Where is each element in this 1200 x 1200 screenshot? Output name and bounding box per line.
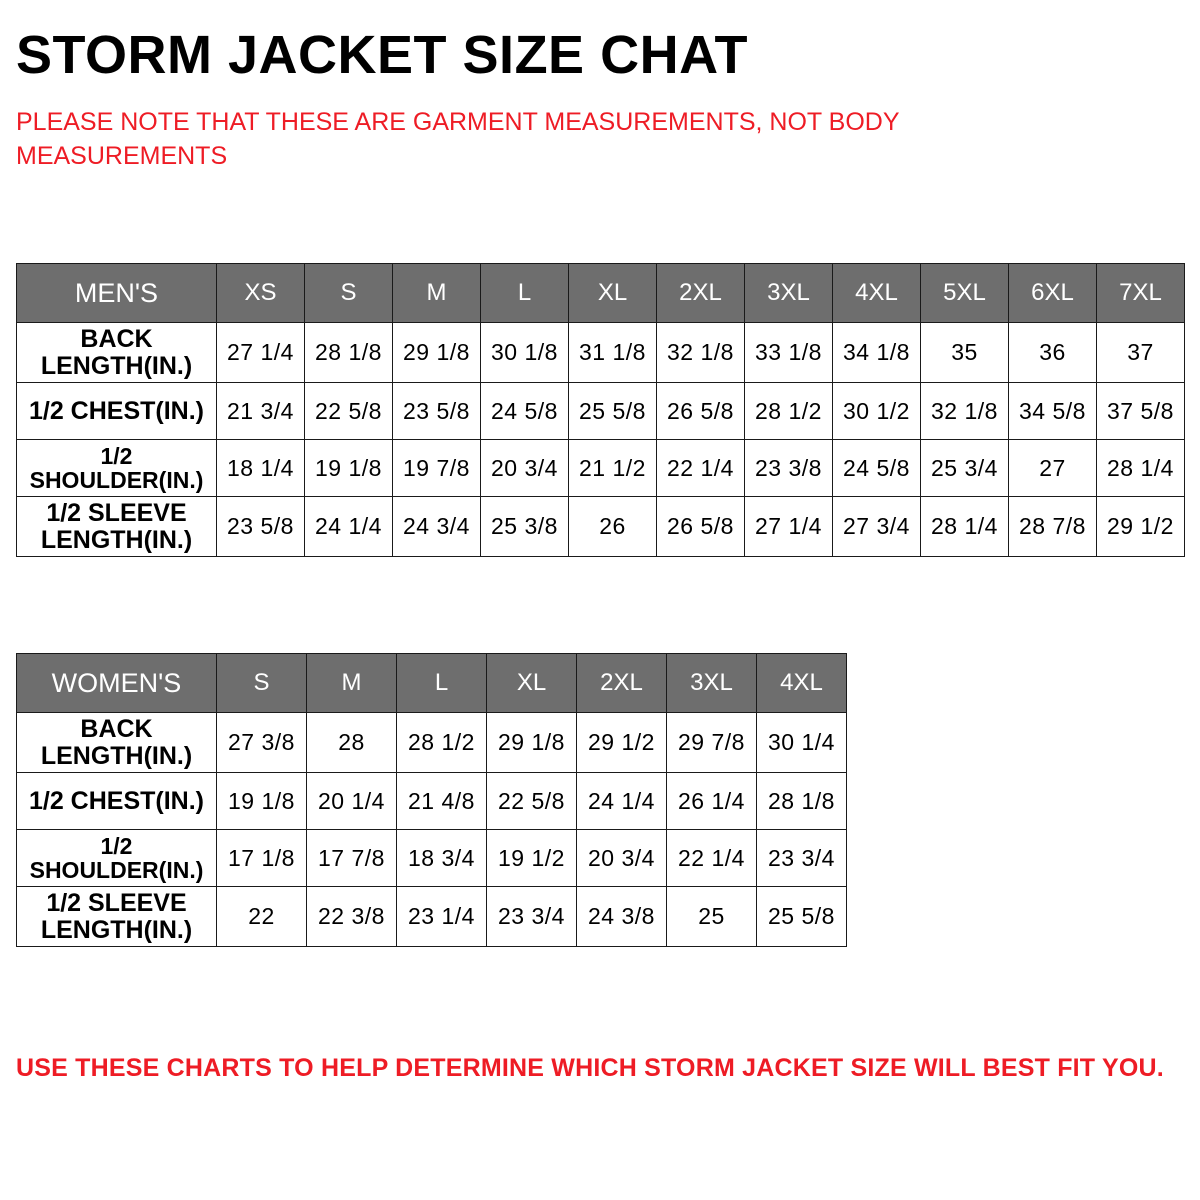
measurement-cell: 30 1/4 [757, 713, 847, 773]
womens-table-head: WOMEN'SSMLXL2XL3XL4XL [17, 654, 847, 713]
measurement-cell: 17 7/8 [307, 830, 397, 887]
measurement-cell: 27 1/4 [217, 323, 305, 383]
measurement-cell: 24 5/8 [481, 383, 569, 440]
mens-column-header-s: S [305, 264, 393, 323]
mens-corner-label: MEN'S [17, 264, 217, 323]
garment-measurement-note: PLEASE NOTE THAT THESE ARE GARMENT MEASU… [16, 82, 966, 174]
size-chart-page: STORM JACKET SIZE CHAT PLEASE NOTE THAT … [0, 0, 1200, 1200]
mens-size-table-container: MEN'SXSSMLXL2XL3XL4XL5XL6XL7XL BACK LENG… [16, 263, 1185, 557]
measurement-cell: 23 1/4 [397, 887, 487, 947]
measurement-cell: 25 5/8 [757, 887, 847, 947]
womens-column-header-2xl: 2XL [577, 654, 667, 713]
mens-column-header-3xl: 3XL [745, 264, 833, 323]
measurement-cell: 23 3/4 [757, 830, 847, 887]
measurement-cell: 28 1/2 [397, 713, 487, 773]
measurement-cell: 29 1/2 [1097, 497, 1185, 557]
mens-column-header-xs: XS [217, 264, 305, 323]
table-row: 1/2 CHEST(IN.)21 3/422 5/823 5/824 5/825… [17, 383, 1185, 440]
measurement-cell: 20 1/4 [307, 773, 397, 830]
measurement-cell: 29 1/8 [393, 323, 481, 383]
measurement-cell: 24 1/4 [577, 773, 667, 830]
measurement-cell: 20 3/4 [481, 440, 569, 497]
measurement-cell: 22 [217, 887, 307, 947]
measurement-cell: 32 1/8 [921, 383, 1009, 440]
mens-column-header-xl: XL [569, 264, 657, 323]
measurement-cell: 24 3/4 [393, 497, 481, 557]
measurement-cell: 26 [569, 497, 657, 557]
measurement-cell: 30 1/2 [833, 383, 921, 440]
measurement-cell: 24 5/8 [833, 440, 921, 497]
mens-header-row: MEN'SXSSMLXL2XL3XL4XL5XL6XL7XL [17, 264, 1185, 323]
measurement-cell: 25 3/4 [921, 440, 1009, 497]
measurement-cell: 19 1/8 [217, 773, 307, 830]
measurement-cell: 28 7/8 [1009, 497, 1097, 557]
mens-row-header-2: 1/2 SHOULDER(IN.) [17, 440, 217, 497]
measurement-cell: 35 [921, 323, 1009, 383]
measurement-cell: 34 1/8 [833, 323, 921, 383]
womens-size-table: WOMEN'SSMLXL2XL3XL4XL BACK LENGTH(IN.)27… [16, 653, 847, 947]
measurement-cell: 28 1/4 [1097, 440, 1185, 497]
measurement-cell: 23 5/8 [217, 497, 305, 557]
measurement-cell: 28 1/2 [745, 383, 833, 440]
measurement-cell: 29 1/2 [577, 713, 667, 773]
mens-column-header-5xl: 5XL [921, 264, 1009, 323]
table-row: 1/2 SLEEVE LENGTH(IN.)23 5/824 1/424 3/4… [17, 497, 1185, 557]
measurement-cell: 31 1/8 [569, 323, 657, 383]
measurement-cell: 23 5/8 [393, 383, 481, 440]
measurement-cell: 22 1/4 [667, 830, 757, 887]
measurement-cell: 27 1/4 [745, 497, 833, 557]
measurement-cell: 21 4/8 [397, 773, 487, 830]
measurement-cell: 27 3/8 [217, 713, 307, 773]
measurement-cell: 23 3/4 [487, 887, 577, 947]
womens-column-header-s: S [217, 654, 307, 713]
womens-row-header-1: 1/2 CHEST(IN.) [17, 773, 217, 830]
mens-column-header-7xl: 7XL [1097, 264, 1185, 323]
measurement-cell: 37 5/8 [1097, 383, 1185, 440]
table-row: 1/2 SLEEVE LENGTH(IN.)2222 3/823 1/423 3… [17, 887, 847, 947]
measurement-cell: 21 1/2 [569, 440, 657, 497]
table-row: BACK LENGTH(IN.)27 1/428 1/829 1/830 1/8… [17, 323, 1185, 383]
measurement-cell: 28 1/4 [921, 497, 1009, 557]
mens-row-header-3: 1/2 SLEEVE LENGTH(IN.) [17, 497, 217, 557]
measurement-cell: 19 1/2 [487, 830, 577, 887]
measurement-cell: 36 [1009, 323, 1097, 383]
measurement-cell: 18 1/4 [217, 440, 305, 497]
womens-size-table-container: WOMEN'SSMLXL2XL3XL4XL BACK LENGTH(IN.)27… [16, 653, 847, 947]
womens-header-row: WOMEN'SSMLXL2XL3XL4XL [17, 654, 847, 713]
womens-row-header-0: BACK LENGTH(IN.) [17, 713, 217, 773]
measurement-cell: 20 3/4 [577, 830, 667, 887]
mens-row-header-1: 1/2 CHEST(IN.) [17, 383, 217, 440]
mens-column-header-2xl: 2XL [657, 264, 745, 323]
measurement-cell: 28 1/8 [305, 323, 393, 383]
help-determine-size-note: USE THESE CHARTS TO HELP DETERMINE WHICH… [16, 1054, 1164, 1083]
mens-column-header-l: L [481, 264, 569, 323]
measurement-cell: 34 5/8 [1009, 383, 1097, 440]
measurement-cell: 37 [1097, 323, 1185, 383]
measurement-cell: 29 7/8 [667, 713, 757, 773]
mens-column-header-m: M [393, 264, 481, 323]
measurement-cell: 25 5/8 [569, 383, 657, 440]
mens-row-header-0: BACK LENGTH(IN.) [17, 323, 217, 383]
measurement-cell: 22 5/8 [487, 773, 577, 830]
measurement-cell: 25 [667, 887, 757, 947]
measurement-cell: 18 3/4 [397, 830, 487, 887]
measurement-cell: 27 [1009, 440, 1097, 497]
womens-column-header-3xl: 3XL [667, 654, 757, 713]
measurement-cell: 33 1/8 [745, 323, 833, 383]
measurement-cell: 22 1/4 [657, 440, 745, 497]
table-row: 1/2 SHOULDER(IN.)17 1/817 7/818 3/419 1/… [17, 830, 847, 887]
mens-size-table: MEN'SXSSMLXL2XL3XL4XL5XL6XL7XL BACK LENG… [16, 263, 1185, 557]
table-row: 1/2 SHOULDER(IN.)18 1/419 1/819 7/820 3/… [17, 440, 1185, 497]
measurement-cell: 23 3/8 [745, 440, 833, 497]
womens-column-header-l: L [397, 654, 487, 713]
measurement-cell: 24 1/4 [305, 497, 393, 557]
measurement-cell: 22 5/8 [305, 383, 393, 440]
page-title: STORM JACKET SIZE CHAT [16, 0, 1184, 82]
mens-column-header-4xl: 4XL [833, 264, 921, 323]
womens-column-header-m: M [307, 654, 397, 713]
measurement-cell: 25 3/8 [481, 497, 569, 557]
womens-column-header-xl: XL [487, 654, 577, 713]
womens-row-header-2: 1/2 SHOULDER(IN.) [17, 830, 217, 887]
mens-table-head: MEN'SXSSMLXL2XL3XL4XL5XL6XL7XL [17, 264, 1185, 323]
measurement-cell: 30 1/8 [481, 323, 569, 383]
measurement-cell: 19 7/8 [393, 440, 481, 497]
measurement-cell: 27 3/4 [833, 497, 921, 557]
measurement-cell: 19 1/8 [305, 440, 393, 497]
womens-column-header-4xl: 4XL [757, 654, 847, 713]
measurement-cell: 22 3/8 [307, 887, 397, 947]
mens-table-body: BACK LENGTH(IN.)27 1/428 1/829 1/830 1/8… [17, 323, 1185, 557]
measurement-cell: 29 1/8 [487, 713, 577, 773]
measurement-cell: 21 3/4 [217, 383, 305, 440]
measurement-cell: 28 1/8 [757, 773, 847, 830]
table-row: 1/2 CHEST(IN.)19 1/820 1/421 4/822 5/824… [17, 773, 847, 830]
measurement-cell: 24 3/8 [577, 887, 667, 947]
measurement-cell: 26 5/8 [657, 383, 745, 440]
measurement-cell: 28 [307, 713, 397, 773]
measurement-cell: 26 5/8 [657, 497, 745, 557]
measurement-cell: 26 1/4 [667, 773, 757, 830]
womens-table-body: BACK LENGTH(IN.)27 3/82828 1/229 1/829 1… [17, 713, 847, 947]
measurement-cell: 32 1/8 [657, 323, 745, 383]
measurement-cell: 17 1/8 [217, 830, 307, 887]
womens-row-header-3: 1/2 SLEEVE LENGTH(IN.) [17, 887, 217, 947]
womens-corner-label: WOMEN'S [17, 654, 217, 713]
table-row: BACK LENGTH(IN.)27 3/82828 1/229 1/829 1… [17, 713, 847, 773]
mens-column-header-6xl: 6XL [1009, 264, 1097, 323]
